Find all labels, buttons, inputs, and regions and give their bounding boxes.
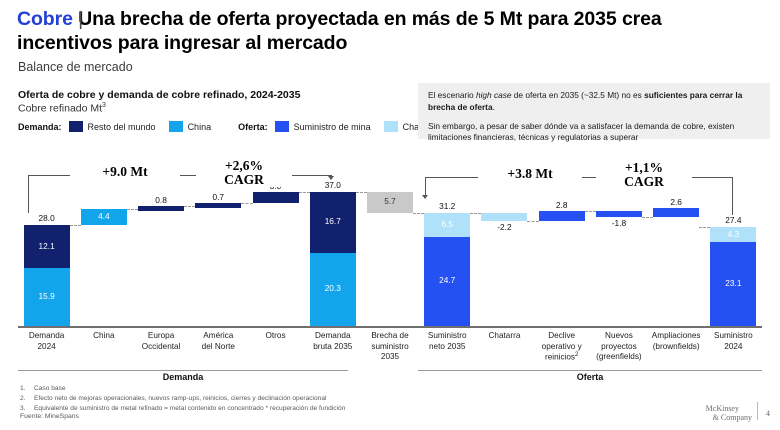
bar-gap-value: 5.7 bbox=[367, 196, 413, 206]
callout-paragraph-1: El escenario high case de oferta en 2035… bbox=[428, 90, 760, 114]
connector-line bbox=[585, 211, 596, 212]
bar-segment-value: 16.7 bbox=[310, 216, 356, 226]
page-subtitle: Balance de mercado bbox=[18, 60, 133, 74]
bar-delta-value: 2.6 bbox=[653, 197, 699, 207]
brand-divider bbox=[757, 402, 758, 420]
connector-line bbox=[184, 206, 195, 207]
bar-segment-value: 15.9 bbox=[24, 291, 70, 301]
legend-item-resto-del-mundo[interactable]: Resto del mundo bbox=[69, 121, 156, 132]
footnote-text: Equivalente de suministro de metal refin… bbox=[34, 404, 345, 414]
axis-category-label: EuropaOccidental bbox=[128, 331, 194, 352]
connector-line bbox=[642, 217, 653, 218]
connector-line bbox=[413, 213, 424, 214]
bar-total-value: 31.2 bbox=[418, 201, 476, 211]
exhibit-unit-text: Cobre refinado Mt bbox=[18, 103, 102, 115]
bar-delta bbox=[481, 213, 527, 221]
bar-total-value: 28.0 bbox=[18, 213, 76, 223]
bracket-stem-left bbox=[425, 177, 426, 195]
footnote-number: 1. bbox=[20, 384, 34, 394]
axis-category-label: Américadel Norte bbox=[185, 331, 251, 352]
bar-segment-value: 24.7 bbox=[424, 275, 470, 285]
connector-line bbox=[527, 221, 538, 222]
source-line: Fuente: MineSpans bbox=[20, 413, 79, 420]
bracket-arrow-down-icon bbox=[422, 195, 428, 199]
legend-item-label: Suministro de mina bbox=[294, 122, 371, 132]
footnotes: 1. Caso base 2. Efecto neto de mejoras o… bbox=[20, 384, 540, 415]
bracket-label-demand-cagr: +2,6%CAGR bbox=[196, 159, 292, 187]
page-title: Cobre | Una brecha de oferta proyectada … bbox=[17, 8, 762, 56]
legend-swatch-icon bbox=[384, 121, 398, 132]
footnote-number: 2. bbox=[20, 394, 34, 404]
bar-delta-value: 0.8 bbox=[138, 195, 184, 205]
connector-line bbox=[699, 227, 710, 228]
connector-line bbox=[299, 192, 310, 193]
axis-baseline bbox=[18, 326, 762, 328]
bar-delta-value: -1.8 bbox=[596, 218, 642, 228]
exhibit-unit-footnote-ref: 3 bbox=[102, 102, 106, 109]
bar-delta bbox=[195, 203, 241, 208]
brand-line-2: & Company bbox=[706, 413, 752, 422]
axis-category-label: Chatarra bbox=[471, 331, 537, 342]
footnote-item: 1. Caso base bbox=[20, 384, 540, 394]
legend-swatch-icon bbox=[275, 121, 289, 132]
axis-category-label: Suministro2024 bbox=[700, 331, 766, 352]
axis-category-label: Ampliaciones(brownfields) bbox=[643, 331, 709, 352]
bar-segment-value: 12.1 bbox=[24, 241, 70, 251]
group-label-demanda: Demanda bbox=[18, 372, 348, 382]
title-main: Una brecha de oferta proyectada en más d… bbox=[17, 8, 662, 54]
connector-line bbox=[70, 225, 81, 226]
page-number: 4 bbox=[766, 408, 770, 418]
bar-delta bbox=[138, 206, 184, 211]
axis-category-label: Demanda2024 bbox=[14, 331, 80, 352]
group-rule-oferta bbox=[418, 370, 762, 371]
axis-category-label: Otros bbox=[243, 331, 309, 342]
bar-delta-value: 2.8 bbox=[539, 200, 585, 210]
axis-category-label: Demandabruta 2035 bbox=[300, 331, 366, 352]
title-divider: | bbox=[78, 8, 83, 32]
bracket-label-demand-delta: +9.0 Mt bbox=[70, 165, 180, 179]
bar-delta bbox=[539, 211, 585, 221]
axis-category-label: Suministroneto 2035 bbox=[414, 331, 480, 352]
bar-segment-value: 6.5 bbox=[424, 219, 470, 229]
footnote-item: 3. Equivalente de suministro de metal re… bbox=[20, 404, 540, 414]
bar-total-value: 27.4 bbox=[704, 215, 762, 225]
connector-line bbox=[127, 209, 138, 210]
callout-text-end: . bbox=[493, 102, 495, 112]
axis-category-label: Decliveoperativo yreinicios2 bbox=[529, 331, 595, 363]
legend-item-label: Resto del mundo bbox=[88, 122, 156, 132]
legend-swatch-icon bbox=[69, 121, 83, 132]
bracket-stem-left bbox=[28, 175, 29, 213]
bar-delta bbox=[253, 192, 299, 203]
brand-line-1: McKinsey bbox=[706, 404, 752, 413]
legend-item-china[interactable]: China bbox=[169, 121, 212, 132]
bar-segment-value: 20.3 bbox=[310, 283, 356, 293]
connector-line bbox=[356, 192, 367, 193]
connector-line bbox=[470, 213, 481, 214]
exhibit-unit: Cobre refinado Mt3 bbox=[18, 102, 106, 115]
callout-paragraph-2: Sin embargo, a pesar de saber dónde va a… bbox=[428, 121, 760, 145]
group-label-oferta: Oferta bbox=[418, 372, 762, 382]
exhibit-title: Oferta de cobre y demanda de cobre refin… bbox=[18, 89, 300, 101]
bar-delta-value: 4.4 bbox=[81, 211, 127, 221]
bracket-arrow-down-icon bbox=[328, 176, 334, 180]
callout-text-italic: high case bbox=[476, 90, 512, 100]
bar-segment-value: 4.3 bbox=[710, 229, 756, 239]
bar-total-value: 37.0 bbox=[304, 180, 362, 190]
bracket-stem-right bbox=[732, 177, 733, 215]
bar-delta bbox=[596, 211, 642, 218]
axis-category-label: Nuevosproyectos(greenfields) bbox=[586, 331, 652, 363]
bar-delta-value: 0.7 bbox=[195, 192, 241, 202]
group-rule-demanda bbox=[18, 370, 348, 371]
axis-category-label: Brecha desuministro2035 bbox=[357, 331, 423, 363]
footnote-item: 2. Efecto neto de mejoras operacionales,… bbox=[20, 394, 540, 404]
bracket-label-supply-delta: +3.8 Mt bbox=[478, 167, 582, 181]
bar-segment-value: 23.1 bbox=[710, 278, 756, 288]
footnote-text: Caso base bbox=[34, 384, 66, 394]
title-kicker: Cobre bbox=[17, 8, 73, 30]
legend-supply-label: Oferta: bbox=[238, 122, 268, 132]
footnote-text: Efecto neto de mejoras operacionales, nu… bbox=[34, 394, 326, 404]
connector-line bbox=[241, 203, 252, 204]
bar-delta-value: -2.2 bbox=[481, 222, 527, 232]
axis-category-label: China bbox=[71, 331, 137, 342]
legend-swatch-icon bbox=[169, 121, 183, 132]
chart-legend: Demanda: Resto del mundo China Oferta: S… bbox=[18, 121, 451, 132]
legend-item-suministro-de-mina[interactable]: Suministro de mina bbox=[275, 121, 371, 132]
insight-callout: El escenario high case de oferta en 2035… bbox=[418, 83, 770, 139]
callout-text-a: El escenario bbox=[428, 90, 476, 100]
bar-delta bbox=[653, 208, 699, 217]
legend-item-label: China bbox=[188, 122, 212, 132]
legend-demand-label: Demanda: bbox=[18, 122, 62, 132]
mckinsey-logo: McKinsey & Company bbox=[706, 404, 752, 422]
bracket-label-supply-cagr: +1,1%CAGR bbox=[596, 161, 692, 189]
callout-text-b: de oferta en 2035 (~32.5 Mt) no es bbox=[512, 90, 645, 100]
